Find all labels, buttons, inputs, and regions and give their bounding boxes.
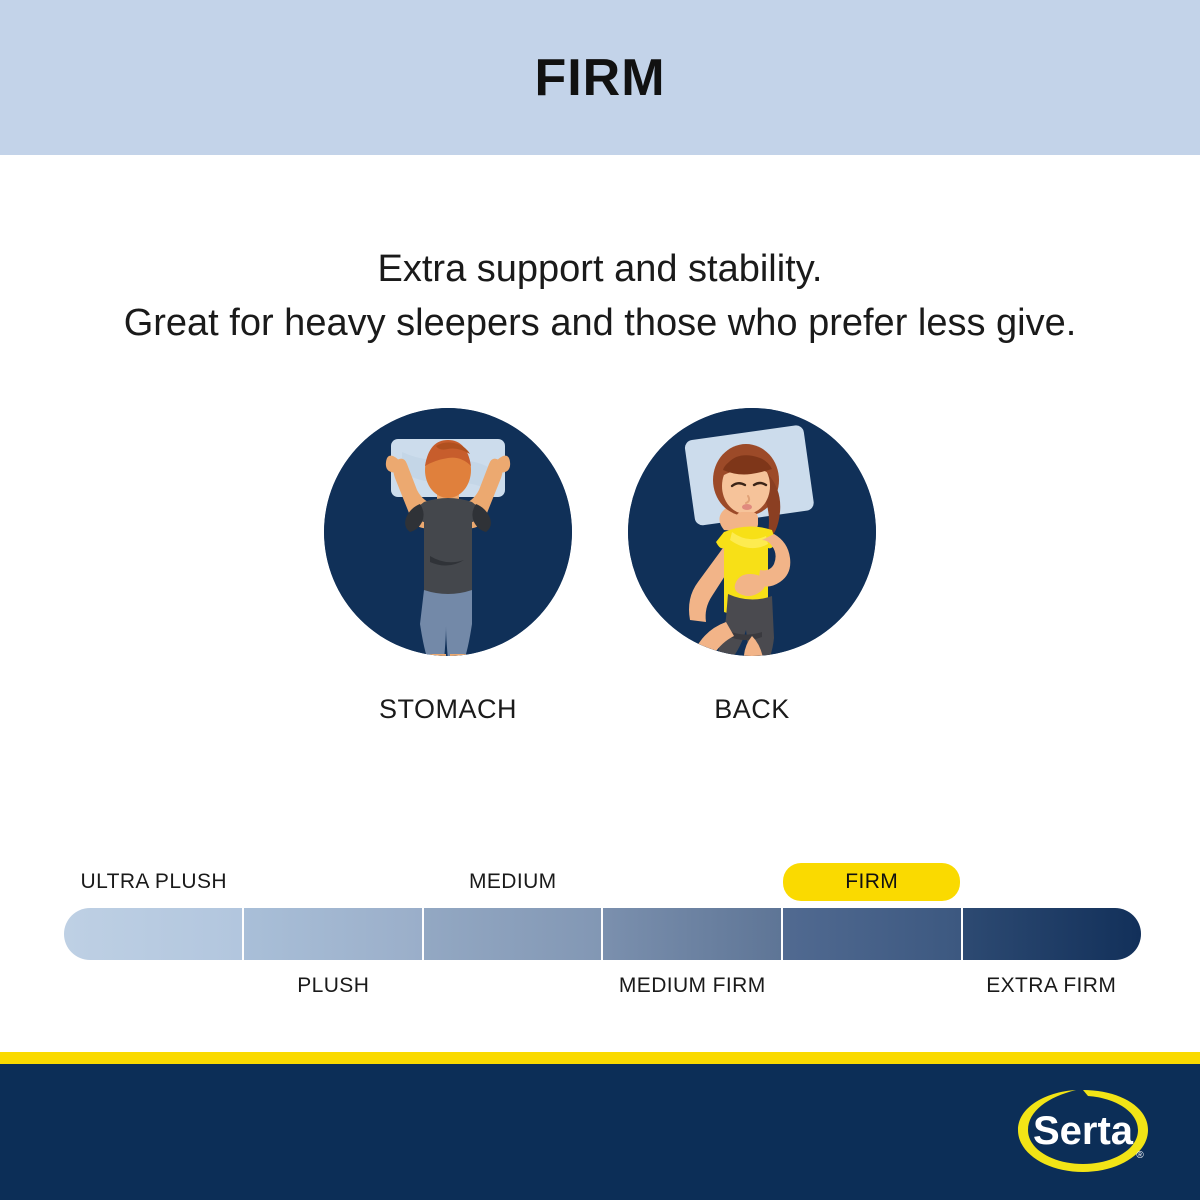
trademark-symbol: ®	[1136, 1150, 1144, 1161]
scale-top-labels: ULTRA PLUSH MEDIUM FIRM	[64, 862, 1141, 902]
scale-label-text: PLUSH	[297, 974, 369, 998]
scale-label-text: EXTRA FIRM	[986, 974, 1116, 998]
scale-label-text: MEDIUM FIRM	[619, 974, 766, 998]
firmness-scale-bar[interactable]	[64, 908, 1141, 960]
footer-divider	[0, 1052, 1200, 1064]
scale-label-plush: PLUSH	[244, 966, 424, 1006]
scale-label-extra-firm: EXTRA FIRM	[962, 966, 1142, 1006]
scale-bottom-labels: PLUSH MEDIUM FIRM EXTRA FIRM	[64, 966, 1141, 1006]
scale-segment-medium-firm[interactable]	[603, 908, 783, 960]
position-label-stomach: STOMACH	[379, 694, 517, 725]
position-stomach: STOMACH	[317, 408, 579, 725]
scale-label-text: ULTRA PLUSH	[81, 870, 227, 894]
stomach-sleeper-icon	[324, 408, 572, 656]
serta-wordmark: Serta	[1033, 1109, 1134, 1153]
scale-label-medium-firm: MEDIUM FIRM	[603, 966, 783, 1006]
description-text: Extra support and stability. Great for h…	[0, 243, 1200, 351]
sleep-positions-group: STOMACH	[0, 408, 1200, 725]
description-line-2: Great for heavy sleepers and those who p…	[0, 297, 1200, 351]
firmness-scale: ULTRA PLUSH MEDIUM FIRM PLUSH	[64, 862, 1141, 1007]
scale-segment-medium[interactable]	[424, 908, 604, 960]
scale-label-firm-selected[interactable]: FIRM	[782, 862, 962, 902]
scale-segment-firm[interactable]	[783, 908, 963, 960]
serta-logo: Serta ®	[1008, 1082, 1158, 1182]
scale-segment-extra-firm[interactable]	[963, 908, 1141, 960]
page-title: FIRM	[534, 48, 665, 108]
scale-segment-plush[interactable]	[244, 908, 424, 960]
description-line-1: Extra support and stability.	[0, 243, 1200, 297]
back-sleeper-icon	[628, 408, 876, 656]
position-label-back: BACK	[714, 694, 790, 725]
footer-band: Serta ®	[0, 1064, 1200, 1200]
position-back: BACK	[621, 408, 883, 725]
header-band: FIRM	[0, 0, 1200, 155]
scale-segment-ultra-plush[interactable]	[64, 908, 244, 960]
scale-label-text: MEDIUM	[469, 870, 557, 894]
status-badge: FIRM	[783, 863, 960, 901]
scale-label-ultra-plush: ULTRA PLUSH	[64, 862, 244, 902]
scale-label-medium: MEDIUM	[423, 862, 603, 902]
